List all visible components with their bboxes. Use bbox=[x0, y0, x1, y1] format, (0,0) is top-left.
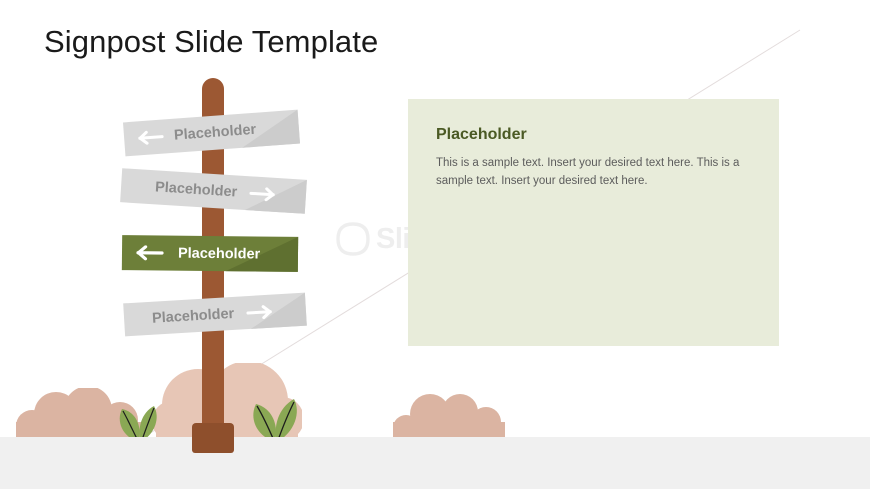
content-panel: Placeholder This is a sample text. Inser… bbox=[408, 99, 779, 346]
arrow-left-icon bbox=[138, 129, 165, 145]
sign-board-1[interactable]: Placeholder bbox=[123, 110, 300, 157]
slidemodel-logo-icon bbox=[336, 222, 370, 256]
panel-body-text: This is a sample text. Insert your desir… bbox=[436, 155, 752, 191]
sign-label-4: Placeholder bbox=[152, 305, 235, 326]
bush-right bbox=[388, 392, 510, 440]
signpost-base bbox=[192, 423, 234, 453]
arrow-right-icon bbox=[246, 304, 273, 320]
sign-board-3-highlighted[interactable]: Placeholder bbox=[122, 235, 298, 272]
page-title: Signpost Slide Template bbox=[44, 24, 378, 60]
sign-board-4[interactable]: Placeholder bbox=[123, 293, 307, 337]
sign-label-2: Placeholder bbox=[155, 179, 238, 200]
ground-strip bbox=[0, 437, 870, 489]
arrow-right-icon bbox=[249, 186, 276, 202]
panel-title: Placeholder bbox=[436, 126, 527, 144]
sign-board-2[interactable]: Placeholder bbox=[120, 168, 307, 214]
slide-canvas: Signpost Slide Template bbox=[0, 0, 870, 489]
arrow-left-icon bbox=[136, 245, 164, 260]
sign-label-3: Placeholder bbox=[178, 245, 260, 262]
